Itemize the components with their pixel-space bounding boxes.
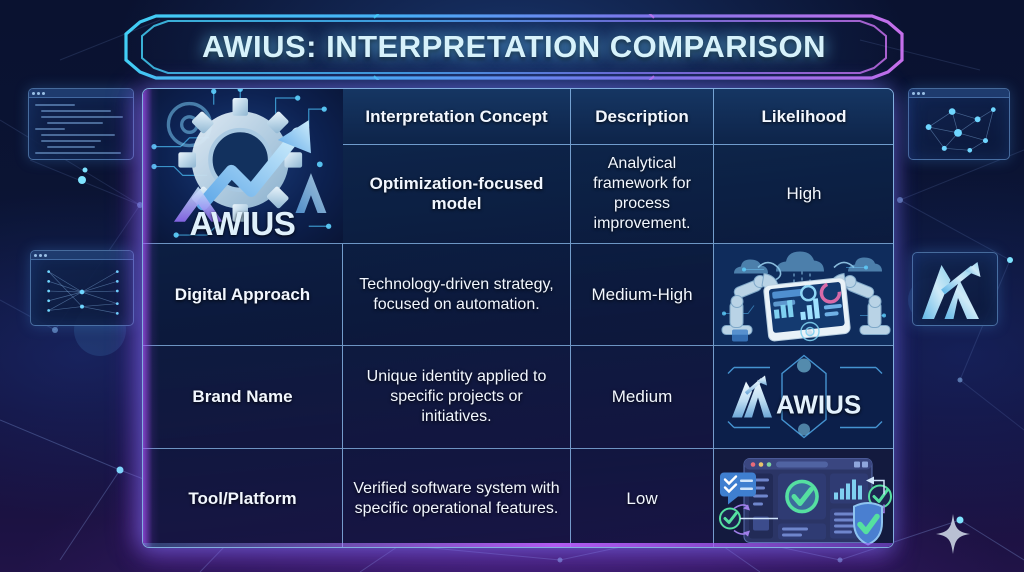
- window-dot-icon: [34, 254, 37, 257]
- awius-a-mark-icon: [913, 253, 997, 325]
- window-titlebar: [909, 89, 1009, 98]
- awius-wordmark-badge-icon: AWIUS: [714, 346, 894, 448]
- window-dot-icon: [32, 92, 35, 95]
- graph-nodes: [909, 98, 1009, 159]
- window-dot-icon: [917, 92, 920, 95]
- table-row: Medium-High: [571, 244, 714, 346]
- window-dot-icon: [42, 92, 45, 95]
- awius-logo-text: AWIUS: [776, 390, 861, 420]
- icon-cell-awius-wordmark-badge: AWIUS: [714, 346, 894, 449]
- comparison-table: Interpretation Concept Description Likel…: [143, 89, 893, 547]
- table-row: Brand Name: [143, 346, 343, 449]
- title-frame: AWIUS: INTERPRETATION COMPARISON: [124, 14, 904, 80]
- table-row: Technology-driven strategy, focused on a…: [343, 244, 571, 346]
- icon-cell-verified-checkmark-shield-ui: [714, 449, 894, 548]
- table-row: High: [714, 145, 894, 244]
- window-dot-icon: [912, 92, 915, 95]
- table-row: Tool/Platform: [143, 449, 343, 548]
- awius-gear-growth-logo-icon: AWIUS: [143, 89, 343, 243]
- neural-flow-window-decoration: [30, 250, 134, 326]
- window-dot-icon: [39, 254, 42, 257]
- icon-cell-robot-arms-tablet-dashboard: [714, 244, 894, 346]
- table-row: Medium: [571, 346, 714, 449]
- column-header-interpretation-concept: Interpretation Concept: [343, 89, 571, 145]
- code-lines: [29, 98, 133, 159]
- awius-logo-text: AWIUS: [190, 206, 296, 243]
- page-title: AWIUS: INTERPRETATION COMPARISON: [124, 14, 904, 80]
- icon-cell-awius-gear-growth-logo: AWIUS: [143, 89, 343, 244]
- table-row: Optimization-focused model: [343, 145, 571, 244]
- table-row: Unique identity applied to specific proj…: [343, 346, 571, 449]
- sparkle-star-decoration: [936, 514, 970, 554]
- column-header-description: Description: [571, 89, 714, 145]
- flow-diagram: [31, 260, 133, 325]
- window-dot-icon: [44, 254, 47, 257]
- table-row: Digital Approach: [143, 244, 343, 346]
- network-graph-window-decoration: [908, 88, 1010, 160]
- comparison-table-container: Interpretation Concept Description Likel…: [142, 88, 894, 548]
- infographic-canvas: AWIUS: INTERPRETATION COMPARISON Interpr…: [0, 0, 1024, 572]
- table-row: Analytical framework for process improve…: [571, 145, 714, 244]
- awius-a-mark-decoration: [912, 252, 998, 326]
- table-row: Verified software system with specific o…: [343, 449, 571, 548]
- table-row: Low: [571, 449, 714, 548]
- column-header-likelihood: Likelihood: [714, 89, 894, 145]
- code-editor-window-decoration: [28, 88, 134, 160]
- window-dot-icon: [922, 92, 925, 95]
- verified-checkmark-shield-ui-icon: [714, 449, 894, 548]
- window-titlebar: [31, 251, 133, 260]
- window-titlebar: [29, 89, 133, 98]
- robot-arms-tablet-dashboard-icon: [714, 244, 894, 345]
- window-dot-icon: [37, 92, 40, 95]
